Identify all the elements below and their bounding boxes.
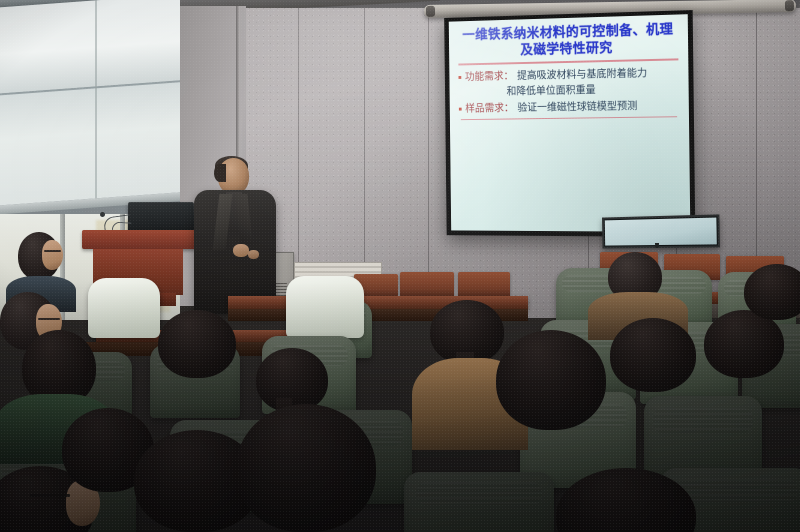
- presenter-hand: [233, 244, 249, 257]
- housing-end-cap: [426, 6, 435, 17]
- bullet-continuation-text: 和降低单位面积重量: [506, 81, 678, 98]
- bullet-marker-icon: [459, 107, 462, 110]
- roller-blind-lower[interactable]: [0, 81, 180, 206]
- slide-bullet-list: 功能需求： 提高吸波材料与基底附着能力 和降低单位面积重量 样品需求： 验证一维…: [457, 65, 681, 120]
- presenter-laptop[interactable]: [128, 202, 194, 232]
- lecture-hall-photo: 一维铁系纳米材料的可控制备、机理 及磁学特性研究 功能需求： 提高吸波材料与基底…: [0, 0, 800, 532]
- audience-head: [236, 404, 376, 532]
- presenter-standing: [190, 158, 282, 314]
- presenter-hair-back: [214, 164, 226, 182]
- projection-surface: 一维铁系纳米材料的可控制备、机理 及磁学特性研究 功能需求： 提高吸波材料与基底…: [449, 14, 691, 232]
- seat-white-cover[interactable]: [286, 276, 364, 338]
- podium-top: [82, 230, 196, 249]
- seat-white-cover[interactable]: [88, 278, 160, 338]
- housing-end-cap: [785, 0, 794, 11]
- bullet-marker-icon: [459, 76, 462, 79]
- audience-head: [256, 348, 328, 412]
- wooden-chair-back[interactable]: [458, 272, 510, 296]
- monitor-mount: [655, 243, 659, 248]
- projection-screen[interactable]: 一维铁系纳米材料的可控制备、机理 及磁学特性研究 功能需求： 提高吸波材料与基底…: [444, 10, 695, 237]
- eyeglasses-icon: [30, 494, 70, 497]
- bullet-value-text: 提高吸波材料与基底附着能力: [517, 66, 647, 83]
- eyeglasses-icon: [44, 250, 61, 252]
- blind-panel-seam: [95, 0, 97, 206]
- slide-bullet-item: 样品需求： 验证一维磁性球链模型预测: [459, 98, 679, 115]
- auditorium-seat[interactable]: [404, 472, 554, 532]
- bullet-value-text: 验证一维磁性球链模型预测: [517, 98, 637, 114]
- bullet-key-label: 样品需求：: [465, 101, 514, 115]
- audience-head: [496, 330, 606, 430]
- slide-divider-top: [458, 58, 678, 65]
- wall-flat-panel-monitor[interactable]: [602, 214, 720, 248]
- audience-face: [42, 240, 63, 270]
- presenter-hand-secondary: [248, 250, 259, 259]
- roller-blind-upper[interactable]: [0, 0, 180, 94]
- microphone-head-icon: [100, 212, 105, 217]
- slide-divider-bottom: [461, 116, 677, 120]
- bullet-key-label: 功能需求：: [465, 69, 514, 84]
- audience-head: [744, 264, 800, 320]
- eyeglasses-icon: [38, 318, 60, 320]
- audience-head: [158, 310, 236, 378]
- audience-head: [704, 310, 784, 378]
- audience-head: [610, 318, 696, 392]
- monitor-screen: [605, 218, 717, 246]
- wooden-chair-back[interactable]: [400, 272, 454, 296]
- presentation-slide: 一维铁系纳米材料的可控制备、机理 及磁学特性研究 功能需求： 提高吸波材料与基底…: [449, 14, 691, 232]
